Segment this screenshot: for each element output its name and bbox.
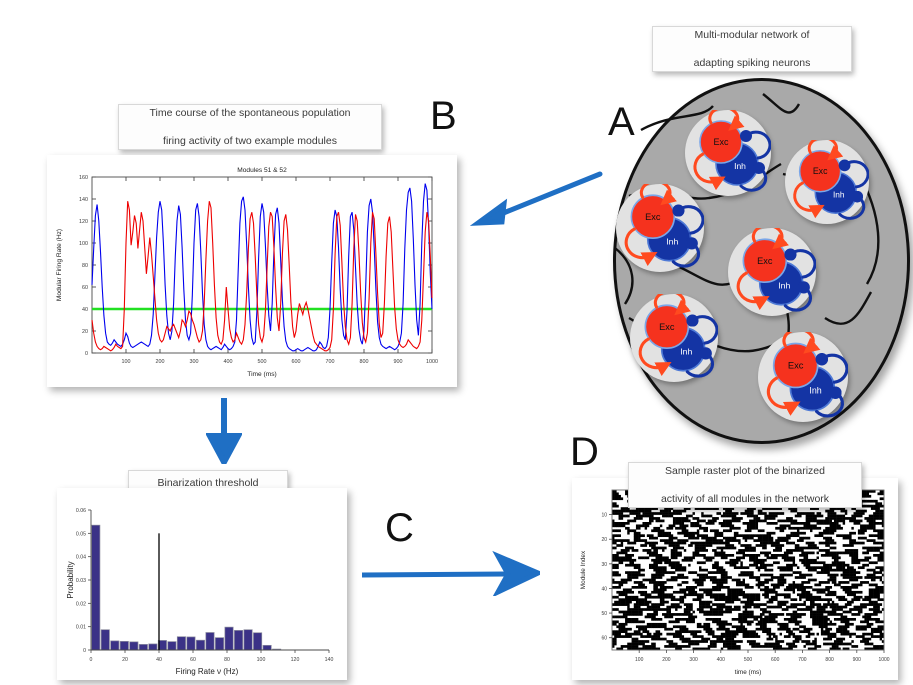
raster-cell [764,588,766,591]
raster-cell [756,623,758,626]
raster-cell [634,520,636,523]
raster-cell [747,524,749,527]
raster-cell [625,579,627,582]
raster-cell [719,584,721,587]
raster-cell [719,539,721,542]
raster-cell [790,564,792,567]
raster-cell [875,547,877,550]
raster-cell [777,579,779,582]
raster-cell [706,640,708,643]
raster-cell [849,537,851,540]
raster-cell [836,569,838,572]
raster-cell [832,603,834,606]
raster-cell [843,564,845,567]
raster-cell [656,564,658,567]
panel-letter-b: B [430,96,457,136]
raster-cell [656,529,658,532]
raster-cell [706,544,708,547]
raster-cell [786,606,788,609]
raster-cell [714,520,716,523]
raster-cell [756,520,758,523]
raster-cell [864,500,866,503]
raster-cell [790,586,792,589]
raster-cell [840,552,842,555]
raster-cell [708,542,710,545]
raster-cell [616,596,618,599]
raster-cell [856,628,858,631]
raster-cell [786,552,788,555]
raster-cell [684,603,686,606]
raster-cell [745,608,747,611]
raster-cell [706,576,708,579]
raster-cell [634,598,636,601]
raster-cell [671,616,673,619]
raster-cell [753,593,755,596]
raster-cell [823,616,825,619]
raster-cell [786,559,788,562]
raster-cell [825,638,827,641]
raster-cell [877,630,879,633]
raster-cell [790,603,792,606]
raster-cell [703,623,705,626]
raster-cell [834,515,836,518]
raster-cell [880,645,882,648]
raster-cell [769,588,771,591]
raster-cell [623,616,625,619]
raster-cell [810,596,812,599]
raster-cell [712,579,714,582]
raster-cell [642,510,644,513]
raster-cell [734,534,736,537]
raster-cell [736,598,738,601]
raster-cell [871,601,873,604]
raster-cell [875,620,877,623]
raster-cell [871,539,873,542]
raster-cell [834,640,836,643]
raster-cell [877,542,879,545]
raster-cell [634,537,636,540]
raster-cell [699,554,701,557]
raster-cell [673,542,675,545]
raster-cell [823,566,825,569]
raster-cell [690,593,692,596]
raster-cell [795,598,797,601]
raster-cell [817,603,819,606]
raster-cell [756,584,758,587]
module-2: Exc Inh [785,140,869,224]
raster-cell [756,593,758,596]
raster-cell [810,544,812,547]
raster-cell [827,539,829,542]
raster-cell [634,586,636,589]
raster-cell [638,608,640,611]
raster-cell [660,520,662,523]
raster-cell [880,635,882,638]
raster-cell [708,601,710,604]
raster-cell [723,596,725,599]
raster-cell [875,613,877,616]
raster-cell [864,598,866,601]
raster-cell [716,623,718,626]
raster-cell [638,628,640,631]
raster-cell [614,596,616,599]
raster-cell [677,542,679,545]
raster-cell [740,620,742,623]
raster-cell [732,524,734,527]
raster-cell [710,640,712,643]
raster-cell [658,529,660,532]
raster-cell [875,584,877,587]
raster-cell [849,517,851,520]
raster-cell [847,571,849,574]
raster-cell [679,564,681,567]
raster-cell [840,638,842,641]
raster-cell [808,566,810,569]
svg-text:20: 20 [82,329,88,335]
raster-cell [793,620,795,623]
raster-cell [619,603,621,606]
raster-cell [780,579,782,582]
svg-text:600: 600 [292,359,301,365]
raster-cell [849,542,851,545]
raster-cell [808,564,810,567]
raster-cell [710,529,712,532]
raster-cell [688,620,690,623]
raster-cell [767,633,769,636]
raster-cell [719,571,721,574]
raster-cell [662,591,664,594]
raster-cell [725,547,727,550]
raster-cell [723,645,725,648]
raster-cell [627,556,629,559]
raster-cell [736,593,738,596]
raster-cell [786,643,788,646]
svg-text:80: 80 [82,263,88,269]
raster-cell [871,576,873,579]
raster-cell [671,515,673,518]
raster-cell [819,606,821,609]
raster-cell [825,544,827,547]
svg-text:1000: 1000 [878,657,889,663]
raster-cell [623,510,625,513]
raster-cell [706,539,708,542]
raster-cell [769,645,771,648]
raster-cell [838,628,840,631]
raster-cell [740,517,742,520]
raster-cell [771,517,773,520]
raster-cell [812,633,814,636]
raster-cell [712,556,714,559]
raster-cell [645,645,647,648]
raster-cell [799,576,801,579]
raster-cell [877,576,879,579]
raster-cell [627,574,629,577]
raster-cell [832,529,834,532]
raster-cell [877,554,879,557]
raster-cell [762,603,764,606]
raster-cell [767,517,769,520]
raster-cell [673,598,675,601]
raster-cell [867,618,869,621]
raster-cell [677,547,679,550]
raster-cell [621,515,623,518]
raster-cell [723,633,725,636]
raster-cell [751,616,753,619]
raster-cell [684,559,686,562]
raster-cell [679,584,681,587]
raster-cell [808,633,810,636]
raster-cell [671,593,673,596]
raster-cell [719,532,721,535]
raster-cell [653,596,655,599]
raster-cell [616,625,618,628]
raster-cell [716,611,718,614]
raster-cell [677,625,679,628]
raster-cell [656,596,658,599]
raster-cell [812,527,814,530]
raster-cell [662,593,664,596]
histogram-bar [92,525,100,650]
raster-cell [640,591,642,594]
raster-cell [725,554,727,557]
raster-cell [762,566,764,569]
timeseries-ylabel: Modular Firing Rate (Hz) [56,229,63,301]
raster-cell [880,571,882,574]
raster-cell [738,517,740,520]
raster-cell [788,628,790,631]
raster-cell [621,512,623,515]
raster-cell [734,564,736,567]
raster-cell [660,561,662,564]
raster-cell [636,532,638,535]
raster-cell [721,552,723,555]
raster-cell [634,640,636,643]
raster-cell [684,569,686,572]
raster-cell [769,643,771,646]
raster-cell [771,539,773,542]
raster-cell [616,591,618,594]
raster-cell [712,593,714,596]
raster-cell [832,556,834,559]
raster-cell [745,603,747,606]
raster-cell [875,517,877,520]
raster-cell [725,574,727,577]
raster-cell [753,522,755,525]
raster-cell [716,566,718,569]
svg-text:200: 200 [662,657,671,663]
raster-cell [743,635,745,638]
raster-cell [836,584,838,587]
raster-cell [677,606,679,609]
raster-cell [673,633,675,636]
raster-cell [751,515,753,518]
raster-cell [827,574,829,577]
raster-cell [810,598,812,601]
raster-cell [780,527,782,530]
raster-cell [793,616,795,619]
raster-cell [764,517,766,520]
raster-cell [632,591,634,594]
raster-cell [843,510,845,513]
raster-cell [858,608,860,611]
raster-cell [688,640,690,643]
raster-cell [810,559,812,562]
raster-cell [642,603,644,606]
raster-cell [623,591,625,594]
raster-cell [780,613,782,616]
raster-cell [634,517,636,520]
raster-cell [732,537,734,540]
raster-cell [777,645,779,648]
raster-cell [634,559,636,562]
raster-cell [636,640,638,643]
raster-cell [634,510,636,513]
raster-cell [640,613,642,616]
raster-cell [847,534,849,537]
raster-cell [832,581,834,584]
raster-cell [679,598,681,601]
raster-cell [832,574,834,577]
raster-cell [749,613,751,616]
raster-cell [693,552,695,555]
raster-cell [719,598,721,601]
raster-cell [638,537,640,540]
raster-cell [747,640,749,643]
raster-cell [671,576,673,579]
raster-cell [677,633,679,636]
raster-cell [795,628,797,631]
raster-cell [671,512,673,515]
raster-cell [777,520,779,523]
raster-cell [880,559,882,562]
raster-cell [640,586,642,589]
raster-cell [760,613,762,616]
raster-cell [771,598,773,601]
raster-cell [671,564,673,567]
raster-cell [684,588,686,591]
raster-cell [775,606,777,609]
raster-cell [653,564,655,567]
raster-cell [797,527,799,530]
raster-cell [740,552,742,555]
raster-cell [823,564,825,567]
raster-cell [740,591,742,594]
raster-cell [856,625,858,628]
raster-cell [719,542,721,545]
raster-cell [812,611,814,614]
raster-cell [669,596,671,599]
raster-cell [719,606,721,609]
raster-cell [658,576,660,579]
raster-cell [808,561,810,564]
raster-cell [642,534,644,537]
raster-cell [864,638,866,641]
raster-cell [773,633,775,636]
raster-cell [682,559,684,562]
raster-cell [716,539,718,542]
raster-cell [767,638,769,641]
raster-cell [838,643,840,646]
raster-cell [666,561,668,564]
raster-cell [738,527,740,530]
raster-cell [753,633,755,636]
raster-cell [732,630,734,633]
raster-cell [740,630,742,633]
raster-cell [825,539,827,542]
raster-cell [653,581,655,584]
raster-cell [834,517,836,520]
raster-cell [701,520,703,523]
raster-cell [734,591,736,594]
raster-cell [619,529,621,532]
raster-cell [730,520,732,523]
raster-cell [725,586,727,589]
raster-cell [788,556,790,559]
raster-cell [775,596,777,599]
raster-cell [790,645,792,648]
raster-cell [862,512,864,515]
raster-cell [623,593,625,596]
raster-cell [847,630,849,633]
raster-cell [734,635,736,638]
raster-cell [690,542,692,545]
raster-cell [679,554,681,557]
raster-cell [795,616,797,619]
raster-cell [664,625,666,628]
raster-cell [843,517,845,520]
raster-cell [651,574,653,577]
raster-cell [716,581,718,584]
raster-cell [790,520,792,523]
raster-cell [656,618,658,621]
raster-cell [764,534,766,537]
raster-cell [656,556,658,559]
raster-cell [673,552,675,555]
raster-cell [836,524,838,527]
raster-cell [880,529,882,532]
raster-cell [732,520,734,523]
raster-cell [760,566,762,569]
raster-cell [725,520,727,523]
raster-cell [880,598,882,601]
raster-cell [669,633,671,636]
raster-cell [821,618,823,621]
raster-cell [867,633,869,636]
raster-cell [769,517,771,520]
raster-cell [823,598,825,601]
raster-cell [658,623,660,626]
raster-cell [662,603,664,606]
raster-cell [775,544,777,547]
raster-cell [649,564,651,567]
raster-cell [647,542,649,545]
raster-cell [640,643,642,646]
raster-cell [786,537,788,540]
raster-cell [693,616,695,619]
raster-cell [688,593,690,596]
raster-cell [662,532,664,535]
raster-cell [801,586,803,589]
raster-cell [693,556,695,559]
raster-cell [723,537,725,540]
raster-cell [753,539,755,542]
raster-cell [649,554,651,557]
raster-cell [825,569,827,572]
raster-cell [873,601,875,604]
raster-cell [725,581,727,584]
raster-cell [738,581,740,584]
raster-cell [867,500,869,503]
